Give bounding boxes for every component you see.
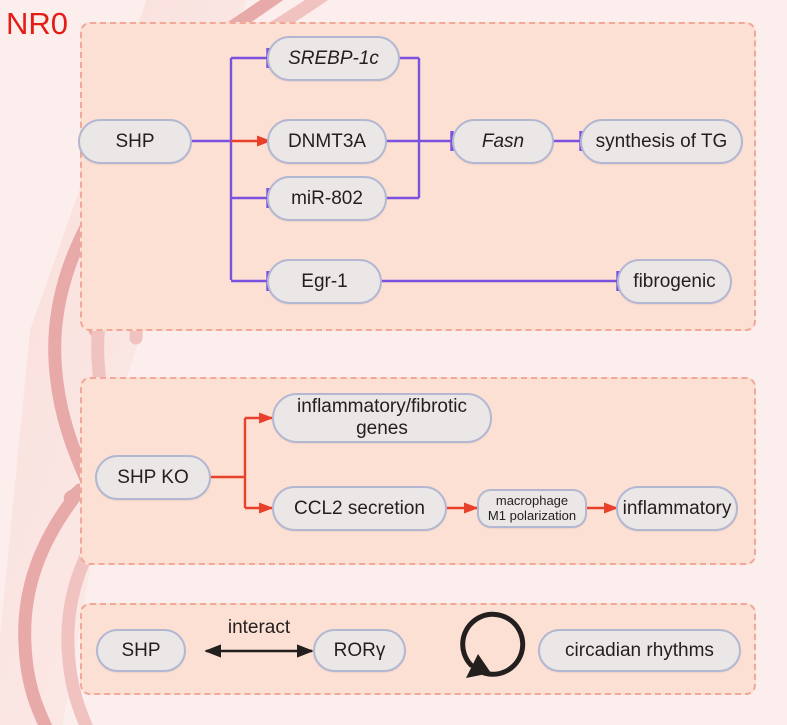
node-shp-circadian-label: SHP (121, 640, 160, 661)
node-inflammatory-fibrotic-genes-label-line1: inflammatory/fibrotic (297, 396, 467, 418)
figure-corner-label: NR0 (6, 6, 68, 42)
node-ror-gamma-label: RORγ (334, 640, 386, 661)
node-synthesis-of-tg[interactable]: synthesis of TG (580, 119, 743, 164)
node-fasn[interactable]: Fasn (452, 119, 554, 164)
node-fibrogenic-label: fibrogenic (633, 271, 715, 292)
node-inflammatory-fibrotic-genes-label-line2: genes (356, 418, 408, 440)
node-mir-802-label: miR-802 (291, 188, 363, 209)
node-ccl2-secretion-label: CCL2 secretion (294, 498, 425, 519)
node-ror-gamma[interactable]: RORγ (313, 629, 406, 672)
node-dnmt3a[interactable]: DNMT3A (267, 119, 387, 164)
node-inflammatory[interactable]: inflammatory (616, 486, 738, 531)
node-mir-802[interactable]: miR-802 (267, 176, 387, 221)
edge-label-interact: interact (199, 617, 319, 639)
node-macrophage-m1-polarization-label-line1: macrophage (496, 494, 568, 509)
node-egr-1-label: Egr-1 (301, 271, 347, 292)
node-synthesis-of-tg-label: synthesis of TG (596, 131, 728, 152)
node-ccl2-secretion[interactable]: CCL2 secretion (272, 486, 447, 531)
node-srebp-1c[interactable]: SREBP-1c (267, 36, 400, 81)
node-shp-ko-label: SHP KO (117, 467, 188, 488)
node-dnmt3a-label: DNMT3A (288, 131, 366, 152)
node-inflammatory-fibrotic-genes[interactable]: inflammatory/fibrotic genes (272, 393, 492, 443)
node-inflammatory-label: inflammatory (623, 498, 732, 519)
node-circadian-rhythms[interactable]: circadian rhythms (538, 629, 741, 672)
node-shp-ko[interactable]: SHP KO (95, 455, 211, 500)
node-circadian-rhythms-label: circadian rhythms (565, 640, 714, 661)
diagram-canvas: NR0 SHP SREBP-1c DNMT3A miR-802 Fasn syn… (0, 0, 787, 725)
node-fibrogenic[interactable]: fibrogenic (617, 259, 732, 304)
node-shp-label: SHP (115, 131, 154, 152)
node-egr-1[interactable]: Egr-1 (267, 259, 382, 304)
node-shp-circadian[interactable]: SHP (96, 629, 186, 672)
node-shp[interactable]: SHP (78, 119, 192, 164)
node-fasn-label: Fasn (482, 131, 524, 152)
node-srebp-1c-label: SREBP-1c (288, 48, 379, 69)
node-macrophage-m1-polarization-label-line2: M1 polarization (488, 509, 576, 524)
node-macrophage-m1-polarization[interactable]: macrophage M1 polarization (477, 489, 587, 528)
